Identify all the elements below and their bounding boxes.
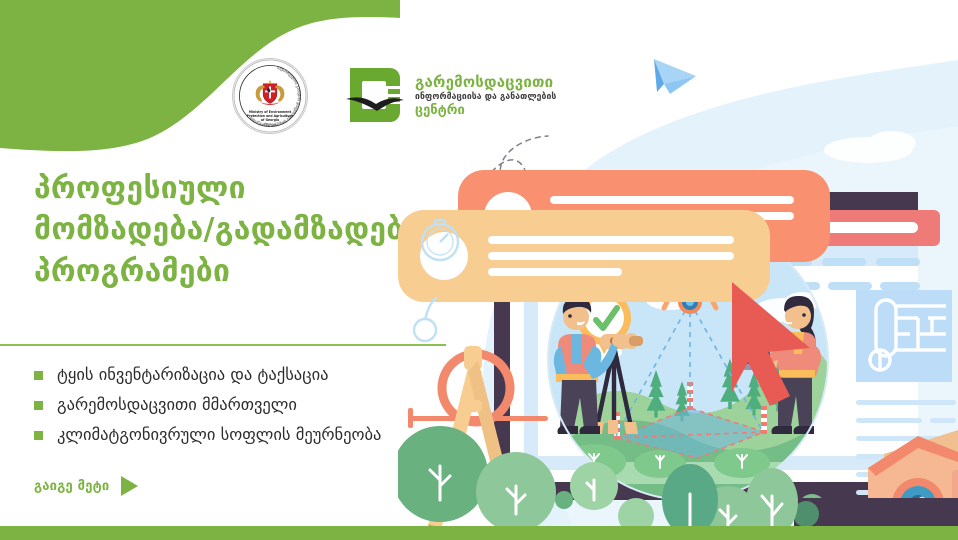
- bullet-square-icon: [34, 401, 43, 410]
- notification-card-yellow: [398, 210, 770, 302]
- list-item-label: კლიმატგონივრული სოფლის მეურნეობა: [57, 420, 381, 450]
- slide-canvas: საქართველოს გარემოს დაცვისა და სოფლის მე…: [0, 0, 958, 540]
- divider-rule: [0, 344, 446, 346]
- svg-text:GEORGIA: GEORGIA: [264, 123, 277, 127]
- list-item-label: ტყის ინვენტარიზაცია და ტაქსაცია: [57, 360, 329, 390]
- svg-text:of Georgia: of Georgia: [261, 118, 279, 122]
- radio-beacon-icon: [414, 298, 437, 341]
- bullet-square-icon: [34, 371, 43, 380]
- land-surveying-drone-scene: [398, 0, 958, 540]
- list-item-label: გარემოსდაცვითი მმართველი: [57, 390, 297, 420]
- blueprint-icon: [856, 290, 952, 382]
- play-triangle-icon: [121, 476, 138, 496]
- learn-more-button[interactable]: გაიგე მეტი: [34, 476, 138, 496]
- ministry-seal-icon: საქართველოს გარემოს დაცვისა და სოფლის მე…: [232, 58, 308, 134]
- bullet-square-icon: [34, 431, 43, 440]
- learn-more-label: გაიგე მეტი: [34, 479, 109, 494]
- brand-book-mark-icon: [344, 66, 406, 126]
- bottom-green-bar: [0, 526, 958, 540]
